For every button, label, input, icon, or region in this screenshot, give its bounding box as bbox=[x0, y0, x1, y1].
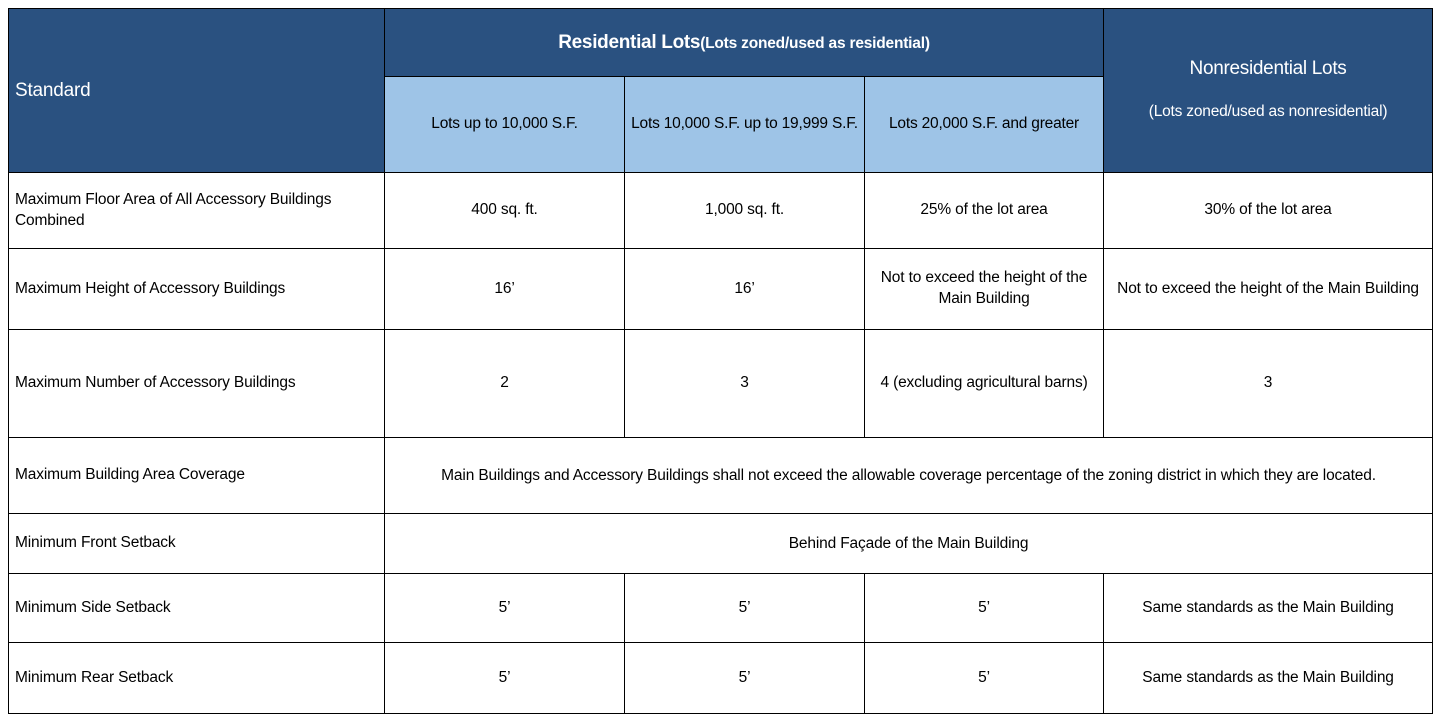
row-value-residential-small: 5’ bbox=[385, 643, 625, 714]
header-col-lots-up-to-10000: Lots up to 10,000 S.F. bbox=[385, 77, 625, 173]
header-nonresidential-title: Nonresidential Lots bbox=[1110, 58, 1426, 80]
row-value-residential-small: 5’ bbox=[385, 574, 625, 643]
row-value-residential-large: 5’ bbox=[865, 643, 1104, 714]
row-value-residential-large: 4 (excluding agricultural barns) bbox=[865, 330, 1104, 438]
row-value-all-columns: Main Buildings and Accessory Buildings s… bbox=[385, 438, 1433, 514]
header-row-groups: Standard Residential Lots(Lots zoned/use… bbox=[9, 9, 1433, 77]
row-value-nonresidential: Same standards as the Main Building bbox=[1104, 574, 1433, 643]
table-row: Maximum Height of Accessory Buildings 16… bbox=[9, 249, 1433, 330]
row-value-nonresidential: Not to exceed the height of the Main Bui… bbox=[1104, 249, 1433, 330]
table-row: Maximum Number of Accessory Buildings 2 … bbox=[9, 330, 1433, 438]
row-standard-label: Minimum Side Setback bbox=[9, 574, 385, 643]
table-row: Minimum Side Setback 5’ 5’ 5’ Same stand… bbox=[9, 574, 1433, 643]
table-row: Minimum Front Setback Behind Façade of t… bbox=[9, 514, 1433, 574]
row-value-residential-small: 2 bbox=[385, 330, 625, 438]
table-row: Maximum Floor Area of All Accessory Buil… bbox=[9, 173, 1433, 249]
row-value-nonresidential: 3 bbox=[1104, 330, 1433, 438]
table-body: Maximum Floor Area of All Accessory Buil… bbox=[9, 173, 1433, 714]
row-standard-label: Maximum Building Area Coverage bbox=[9, 438, 385, 514]
row-value-all-columns: Behind Façade of the Main Building bbox=[385, 514, 1433, 574]
row-standard-label: Maximum Floor Area of All Accessory Buil… bbox=[9, 173, 385, 249]
header-residential-subtitle: (Lots zoned/used as residential) bbox=[700, 35, 930, 52]
row-value-residential-medium: 1,000 sq. ft. bbox=[625, 173, 865, 249]
row-value-residential-small: 400 sq. ft. bbox=[385, 173, 625, 249]
header-standard: Standard bbox=[9, 9, 385, 173]
row-standard-label: Maximum Height of Accessory Buildings bbox=[9, 249, 385, 330]
table-row: Minimum Rear Setback 5’ 5’ 5’ Same stand… bbox=[9, 643, 1433, 714]
header-col-lots-10000-to-19999: Lots 10,000 S.F. up to 19,999 S.F. bbox=[625, 77, 865, 173]
row-standard-label: Minimum Front Setback bbox=[9, 514, 385, 574]
row-value-residential-medium: 16’ bbox=[625, 249, 865, 330]
row-value-nonresidential: 30% of the lot area bbox=[1104, 173, 1433, 249]
row-value-residential-medium: 5’ bbox=[625, 574, 865, 643]
row-value-residential-large: 25% of the lot area bbox=[865, 173, 1104, 249]
row-standard-label: Minimum Rear Setback bbox=[9, 643, 385, 714]
table-row: Maximum Building Area Coverage Main Buil… bbox=[9, 438, 1433, 514]
row-value-residential-medium: 5’ bbox=[625, 643, 865, 714]
header-nonresidential-subtitle: (Lots zoned/used as nonresidential) bbox=[1110, 100, 1426, 123]
header-nonresidential-group: Nonresidential Lots (Lots zoned/used as … bbox=[1104, 9, 1433, 173]
accessory-building-standards-table: Standard Residential Lots(Lots zoned/use… bbox=[8, 8, 1433, 714]
document-canvas: Standard Residential Lots(Lots zoned/use… bbox=[0, 0, 1442, 721]
header-col-lots-20000-and-greater: Lots 20,000 S.F. and greater bbox=[865, 77, 1104, 173]
header-residential-group: Residential Lots(Lots zoned/used as resi… bbox=[385, 9, 1104, 77]
row-value-residential-large: Not to exceed the height of the Main Bui… bbox=[865, 249, 1104, 330]
table-header: Standard Residential Lots(Lots zoned/use… bbox=[9, 9, 1433, 173]
row-value-residential-medium: 3 bbox=[625, 330, 865, 438]
row-standard-label: Maximum Number of Accessory Buildings bbox=[9, 330, 385, 438]
header-residential-title: Residential Lots bbox=[558, 32, 700, 53]
row-value-residential-small: 16’ bbox=[385, 249, 625, 330]
row-value-nonresidential: Same standards as the Main Building bbox=[1104, 643, 1433, 714]
row-value-residential-large: 5’ bbox=[865, 574, 1104, 643]
